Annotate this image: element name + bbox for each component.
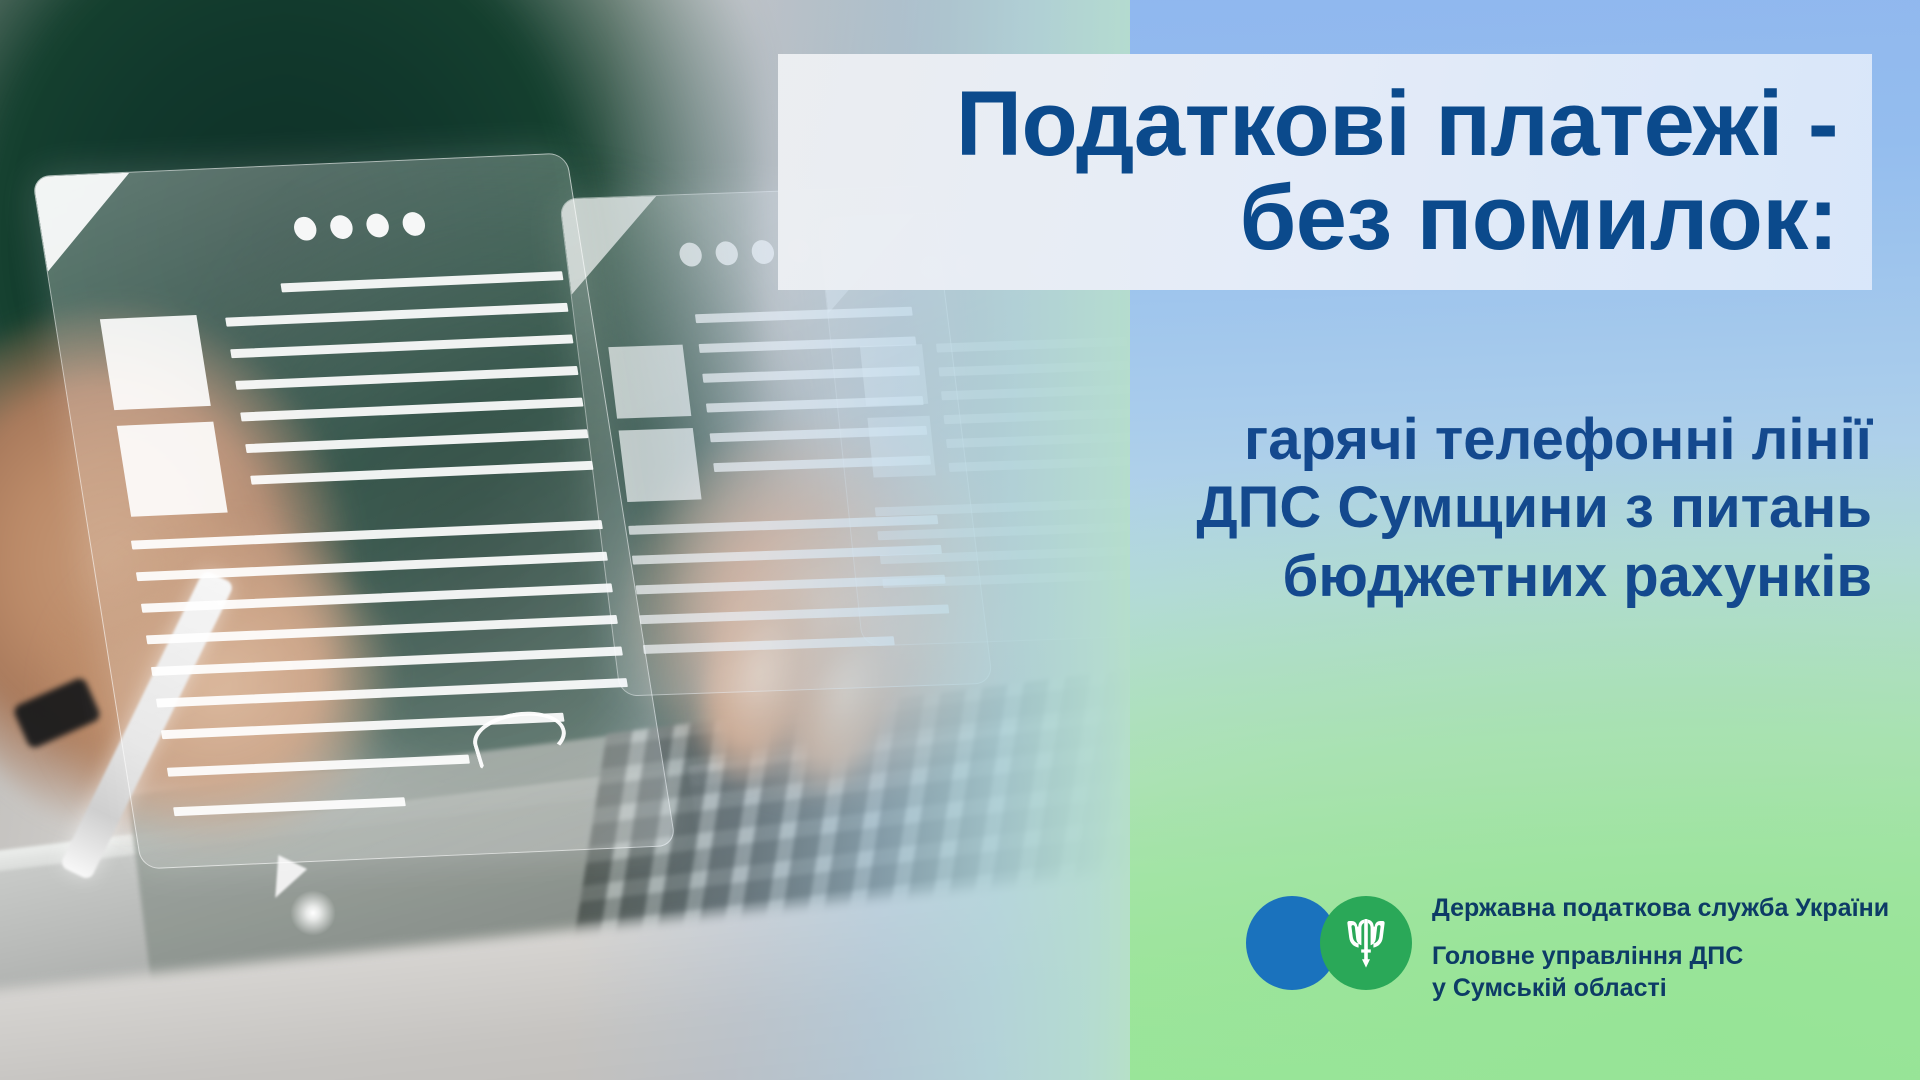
poster-canvas: Податкові платежі - без помилок: гарячі … — [0, 0, 1920, 1080]
subheadline-line-2: ДПС Сумщини з питань — [900, 474, 1872, 542]
headline-line-1: Податкові платежі - — [956, 78, 1838, 172]
subheadline: гарячі телефонні лінії ДПС Сумщини з пит… — [900, 406, 1872, 611]
logo-marks — [1246, 894, 1432, 992]
agency-name-line-3: у Сумській області — [1432, 972, 1889, 1004]
green-circle-trident-mark — [1320, 896, 1412, 990]
agency-name-line-1: Державна податкова служба України — [1432, 896, 1889, 921]
agency-name-line-2: Головне управління ДПС — [1432, 940, 1889, 972]
headline-line-2: без помилок: — [1239, 172, 1838, 266]
subheadline-line-3: бюджетних рахунків — [900, 543, 1872, 611]
agency-logo-text: Державна податкова служба України Головн… — [1432, 894, 1889, 1004]
subheadline-line-1: гарячі телефонні лінії — [900, 406, 1872, 474]
agency-logo-block: Державна податкова служба України Головн… — [1246, 894, 1889, 1004]
trident-icon — [1345, 915, 1387, 971]
headline-panel: Податкові платежі - без помилок: — [778, 54, 1872, 290]
